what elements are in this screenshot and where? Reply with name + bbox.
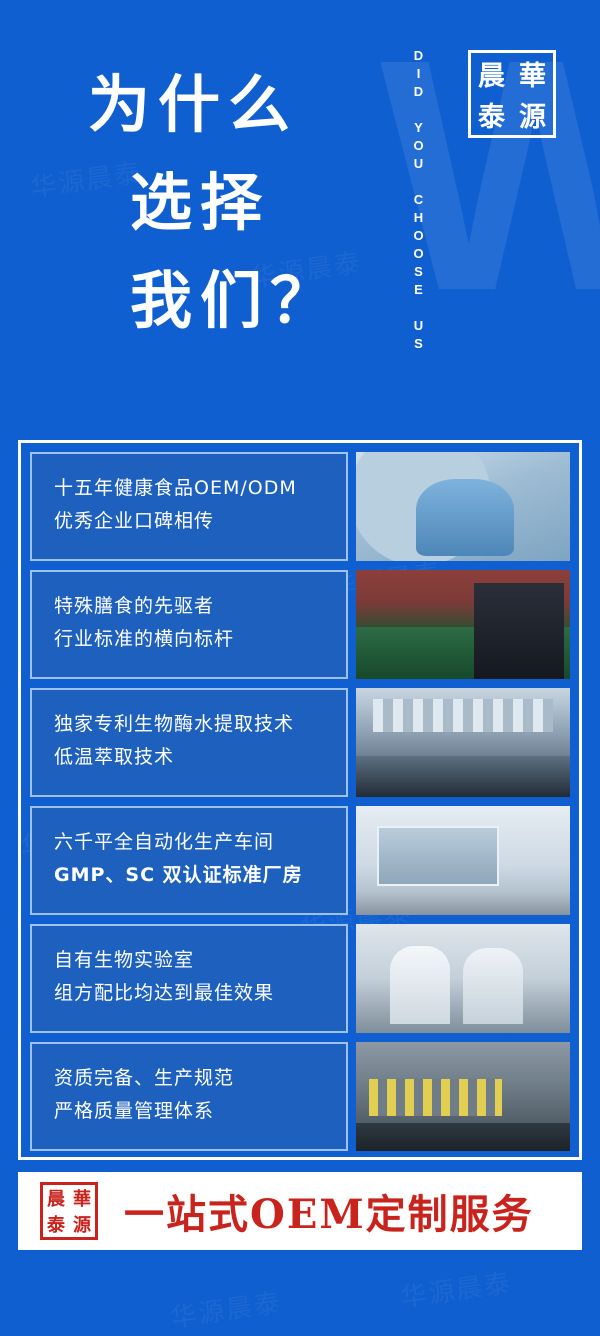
feature-text: 资质完备、生产规范 严格质量管理体系 xyxy=(30,1042,348,1151)
feature-line-1: 自有生物实验室 xyxy=(54,944,346,977)
title-line-2: 选择 xyxy=(130,166,270,239)
footer-seal-char-3: 泰 xyxy=(43,1211,69,1237)
feature-line-2: 组方配比均达到最佳效果 xyxy=(54,977,346,1010)
feature-line-1: 特殊膳食的先驱者 xyxy=(54,590,346,623)
feature-text: 六千平全自动化生产车间 GMP、SC 双认证标准厂房 xyxy=(30,806,348,915)
feature-line-1: 资质完备、生产规范 xyxy=(54,1062,346,1095)
lab-technician-photo xyxy=(356,452,570,561)
feature-line-2: GMP、SC 双认证标准厂房 xyxy=(54,859,346,892)
list-item: 资质完备、生产规范 严格质量管理体系 xyxy=(30,1042,570,1151)
title-line-3: 我们？ xyxy=(130,264,340,337)
footer-slogan: 一站式OEM定制服务 xyxy=(124,1182,534,1240)
page-title: 为什么 选择 我们？ xyxy=(88,56,340,350)
title-line-1: 为什么 xyxy=(88,68,298,141)
feature-line-1: 六千平全自动化生产车间 xyxy=(54,826,346,859)
footer-banner: 晨 華 泰 源 一站式OEM定制服务 xyxy=(18,1172,582,1250)
footer-seal-char-1: 晨 xyxy=(43,1185,69,1211)
brand-logo-seal: 晨 華 泰 源 xyxy=(468,50,556,138)
feature-line-1: 十五年健康食品OEM/ODM xyxy=(54,472,346,505)
seal-char-4: 源 xyxy=(512,94,553,135)
feature-line-2: 优秀企业口碑相传 xyxy=(54,505,346,538)
feature-text: 独家专利生物酶水提取技术 低温萃取技术 xyxy=(30,688,348,797)
list-item: 独家专利生物酶水提取技术 低温萃取技术 xyxy=(30,688,570,797)
packaging-line-photo xyxy=(356,1042,570,1151)
list-item: 六千平全自动化生产车间 GMP、SC 双认证标准厂房 xyxy=(30,806,570,915)
background-watermark: 华源晨泰 xyxy=(398,1262,514,1314)
footer-seal-char-4: 源 xyxy=(69,1211,95,1237)
list-item: 自有生物实验室 组方配比均达到最佳效果 xyxy=(30,924,570,1033)
seal-char-3: 泰 xyxy=(471,94,512,135)
conference-audience-photo xyxy=(356,570,570,679)
feature-text: 特殊膳食的先驱者 行业标准的横向标杆 xyxy=(30,570,348,679)
feature-line-2: 低温萃取技术 xyxy=(54,741,346,774)
list-item: 特殊膳食的先驱者 行业标准的横向标杆 xyxy=(30,570,570,679)
filling-machine-photo xyxy=(356,688,570,797)
poster-header: 为什么 选择 我们？ DID YOU CHOOSE US 晨 華 泰 源 xyxy=(0,0,600,430)
list-item: 十五年健康食品OEM/ODM 优秀企业口碑相传 xyxy=(30,452,570,561)
feature-text: 十五年健康食品OEM/ODM 优秀企业口碑相传 xyxy=(30,452,348,561)
feature-text: 自有生物实验室 组方配比均达到最佳效果 xyxy=(30,924,348,1033)
feature-line-2: 严格质量管理体系 xyxy=(54,1095,346,1128)
vertical-english-subtitle: DID YOU CHOOSE US xyxy=(400,48,426,393)
seal-char-1: 晨 xyxy=(471,53,512,94)
feature-line-2: 行业标准的横向标杆 xyxy=(54,623,346,656)
cleanroom-workshop-photo xyxy=(356,806,570,915)
feature-line-1: 独家专利生物酶水提取技术 xyxy=(54,708,346,741)
features-list: 十五年健康食品OEM/ODM 优秀企业口碑相传 特殊膳食的先驱者 行业标准的横向… xyxy=(30,452,570,1160)
lab-staff-photo xyxy=(356,924,570,1033)
footer-seal-char-2: 華 xyxy=(69,1185,95,1211)
seal-char-2: 華 xyxy=(512,53,553,94)
background-watermark: 华源晨泰 xyxy=(168,1282,284,1334)
footer-logo-seal: 晨 華 泰 源 xyxy=(40,1182,98,1240)
